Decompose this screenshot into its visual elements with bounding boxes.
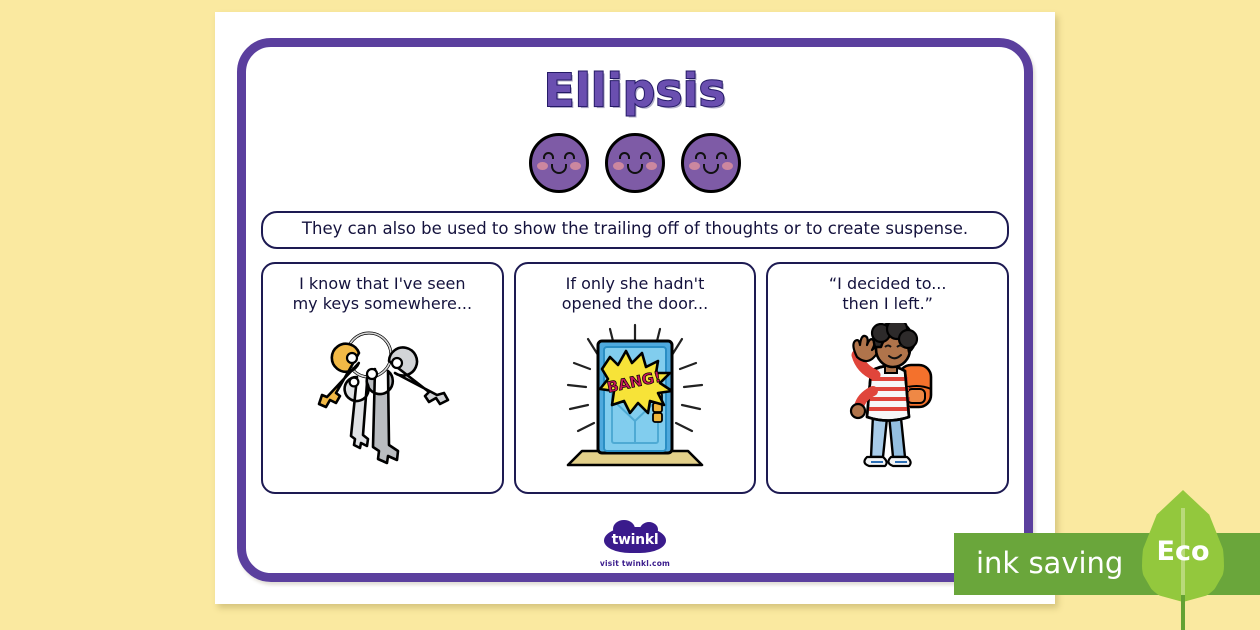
smile-mouth-icon <box>703 164 719 174</box>
keys-illustration <box>269 314 496 486</box>
smiley-dot-icon-2 <box>605 133 665 193</box>
example-card-door: If only she hadn't opened the door... <box>514 262 757 494</box>
eye-left-icon <box>619 152 630 159</box>
example-card-text: I know that I've seen my keys somewhere.… <box>293 274 473 314</box>
ellipsis-dots-row <box>255 129 1015 197</box>
blush-right-icon <box>570 162 581 170</box>
smiley-dot-icon-3 <box>681 133 741 193</box>
blush-left-icon <box>537 162 548 170</box>
example-card-text: “I decided to... then I left.” <box>829 274 947 314</box>
blush-left-icon <box>689 162 700 170</box>
smile-mouth-icon <box>627 164 643 174</box>
page-title: Ellipsis <box>255 64 1015 117</box>
eye-left-icon <box>543 152 554 159</box>
eco-leaf-label: Eco <box>1142 536 1224 567</box>
twinkl-url: visit twinkl.com <box>255 559 1015 568</box>
poster-page: Ellipsis <box>215 12 1055 604</box>
smile-mouth-icon <box>551 164 567 174</box>
door-illustration: BANG! <box>522 314 749 486</box>
eye-right-icon <box>716 152 727 159</box>
eye-right-icon <box>564 152 575 159</box>
blush-left-icon <box>613 162 624 170</box>
statement-banner: They can also be used to show the traili… <box>261 211 1009 249</box>
child-illustration <box>774 314 1001 486</box>
leaf-icon: Eco <box>1142 490 1224 630</box>
poster-content: Ellipsis <box>255 54 1015 564</box>
example-card-child: “I decided to... then I left.” <box>766 262 1009 494</box>
example-card-keys: I know that I've seen my keys somewhere.… <box>261 262 504 494</box>
slamming-door-icon: BANG! <box>540 323 730 478</box>
bunch-of-keys-icon <box>297 325 467 475</box>
example-card-text: If only she hadn't opened the door... <box>562 274 708 314</box>
leaf-stem <box>1181 595 1185 630</box>
example-cards-row: I know that I've seen my keys somewhere.… <box>261 262 1009 494</box>
eco-badge-label: ink saving <box>976 546 1123 580</box>
blush-right-icon <box>722 162 733 170</box>
blush-right-icon <box>646 162 657 170</box>
eco-badge: ink saving Eco <box>954 533 1260 595</box>
waving-child-icon <box>813 323 963 478</box>
twinkl-logo: twinkl visit twinkl.com <box>255 527 1015 568</box>
eye-right-icon <box>640 152 651 159</box>
twinkl-cloud-icon: twinkl <box>604 527 666 553</box>
smiley-dot-icon-1 <box>529 133 589 193</box>
twinkl-wordmark: twinkl <box>604 532 666 548</box>
eye-left-icon <box>695 152 706 159</box>
